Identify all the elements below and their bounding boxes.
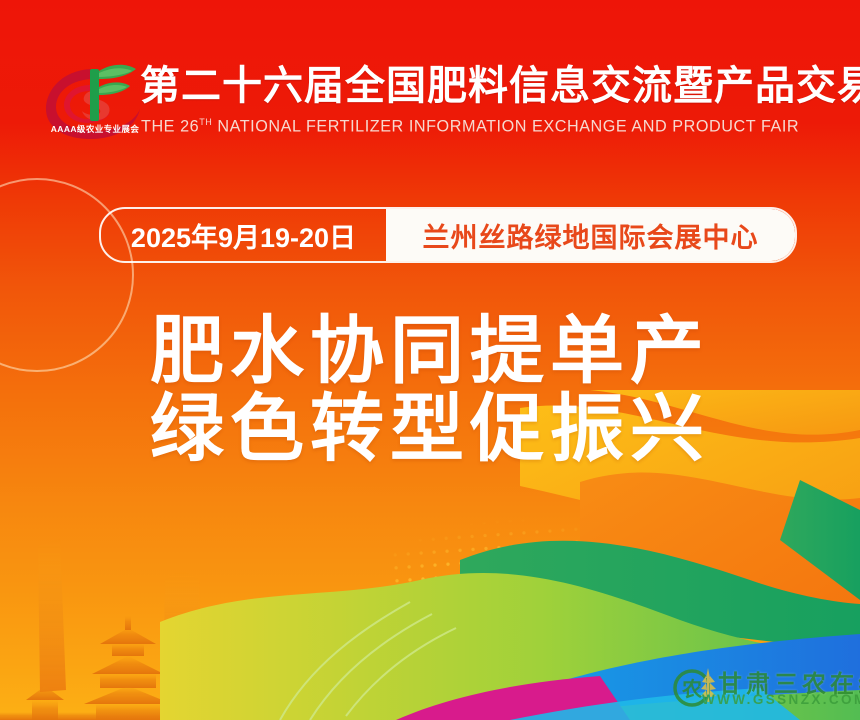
event-title-en-ordinal: TH: [199, 117, 212, 127]
watermark-url: WWW.GSSNZX.COM: [702, 692, 860, 707]
event-title-cn: 第二十六届全国肥料信息交流暨产品交易会: [140, 66, 860, 106]
poster-header: AAAA级农业专业展会 第二十六届全国肥料信息交流暨产品交易会 THE 26TH…: [0, 0, 860, 158]
svg-text:农: 农: [681, 677, 702, 701]
event-title-en-prefix: THE 26: [141, 117, 199, 135]
event-venue: 兰州丝路绿地国际会展中心: [386, 209, 795, 261]
date-venue-pill: 2025年9月19-20日 兰州丝路绿地国际会展中心: [99, 207, 797, 263]
event-date: 2025年9月19-20日: [101, 209, 386, 261]
slogan-line-2: 绿色转型促振兴: [0, 390, 860, 468]
event-title-en: THE 26TH NATIONAL FERTILIZER INFORMATION…: [141, 118, 799, 135]
event-slogan: 肥水协同提单产 绿色转型促振兴: [0, 312, 860, 469]
site-watermark: 农 甘肃三农在线 WWW.GSSNZX.COM: [672, 662, 860, 720]
event-poster: AAAA级农业专业展会 第二十六届全国肥料信息交流暨产品交易会 THE 26TH…: [0, 0, 860, 720]
logo-caption: AAAA级农业专业展会: [40, 123, 150, 135]
slogan-line-1: 肥水协同提单产: [0, 312, 860, 390]
event-title-en-rest: NATIONAL FERTILIZER INFORMATION EXCHANGE…: [212, 117, 799, 135]
